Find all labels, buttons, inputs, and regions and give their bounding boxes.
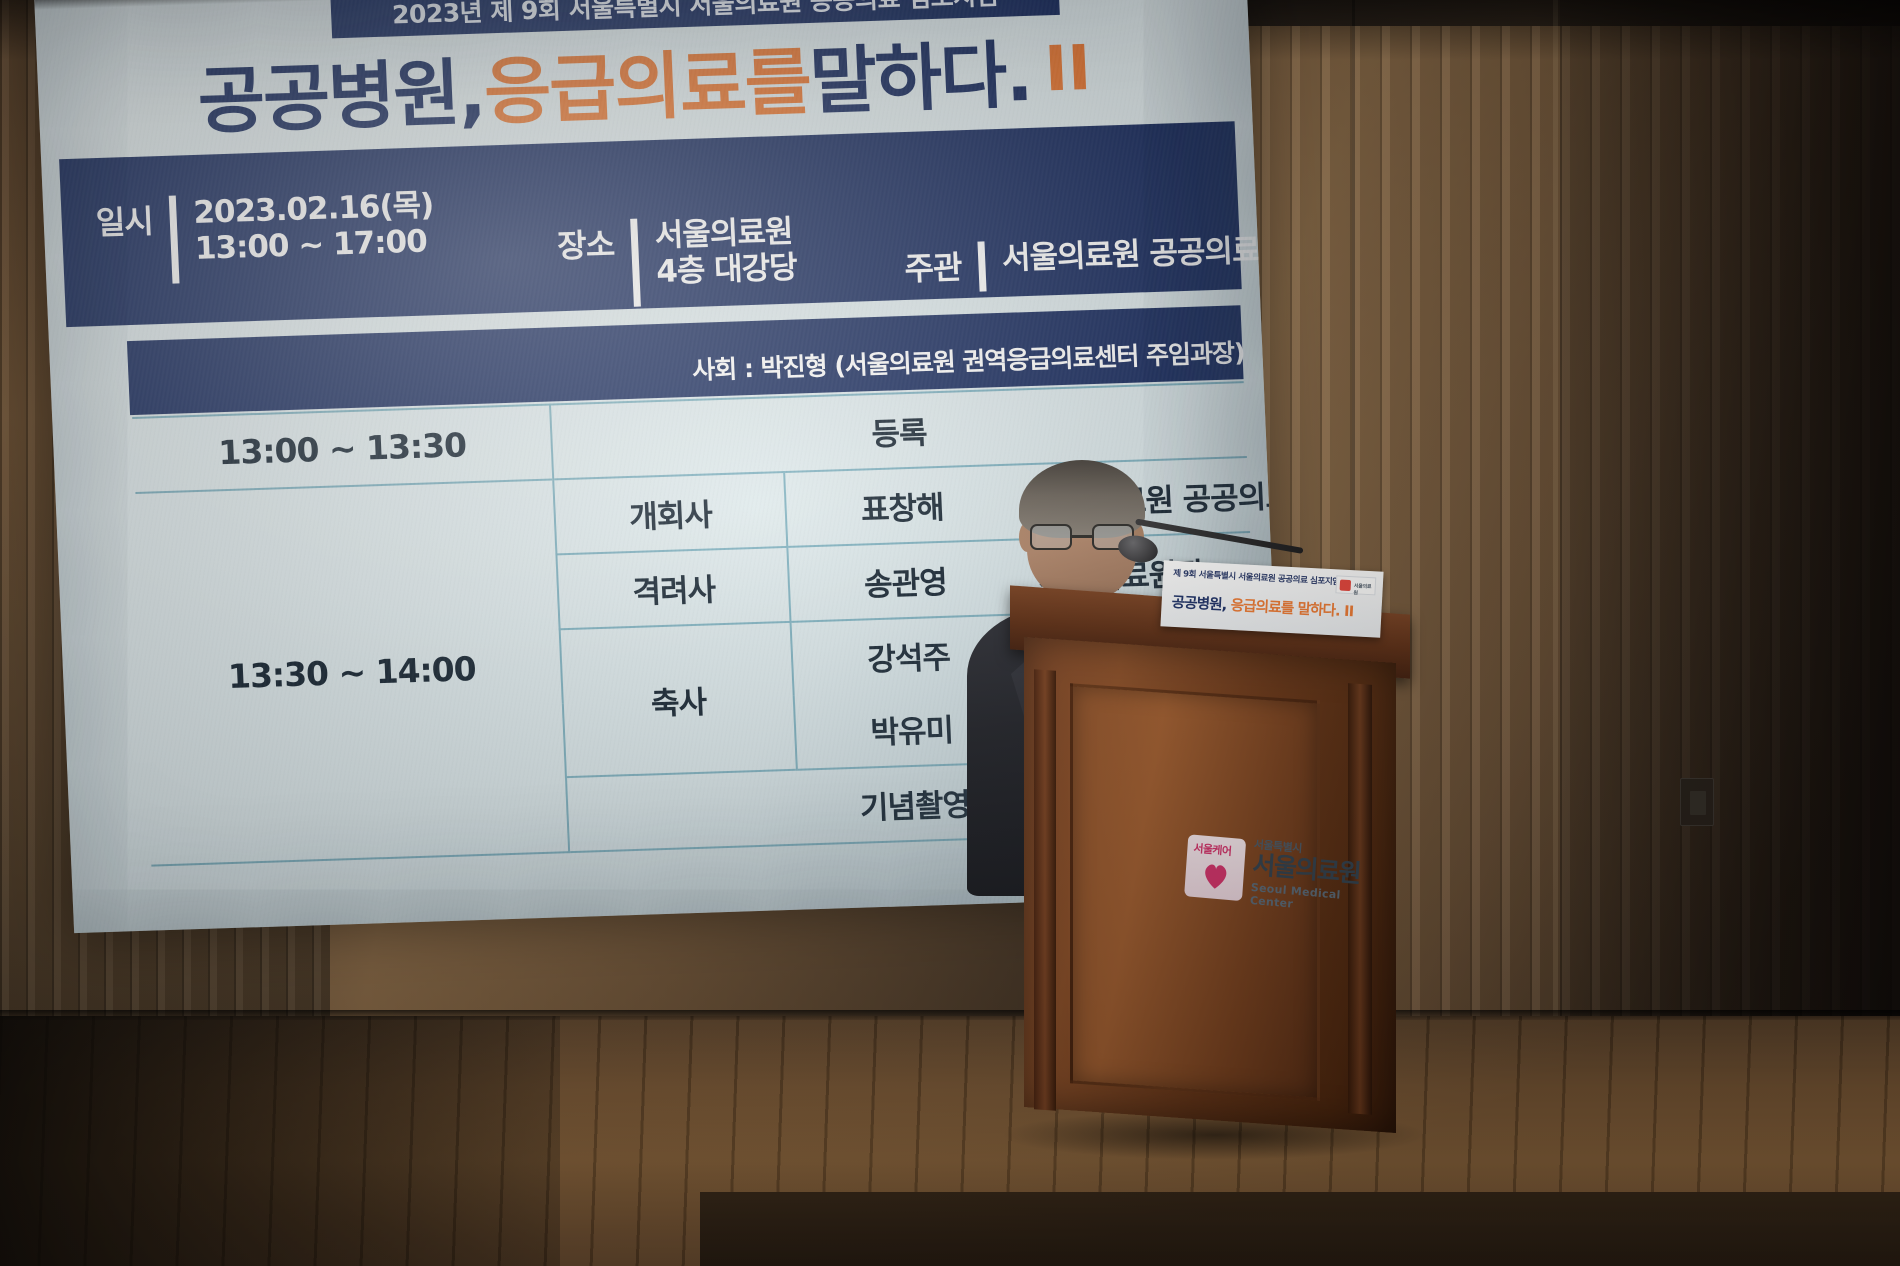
logo-mark-icon — [1340, 580, 1352, 592]
podium-trim-left — [1034, 669, 1056, 1111]
podium-brand-logo: 서울케어 서울특별시 서울의료원 Seoul Medical Center — [1183, 822, 1368, 921]
divider — [630, 219, 641, 307]
row-time: 13:30 ~ 14:00 — [135, 479, 569, 865]
podium-placard: 제 9회 서울특별시 서울의료원 공공의료 심포지엄 공공병원, 응급의료를 말… — [1160, 560, 1383, 637]
slide-info-bar: 일시 2023.02.16(목) 13:00 ~ 17:00 장소 서울의료원 … — [59, 121, 1242, 327]
placard-logo-caption: 서울의료원 — [1353, 582, 1375, 597]
divider — [977, 241, 986, 291]
host-value: 서울의료원 공공의료본부 — [1001, 231, 1285, 277]
slide-title-part4: II — [1043, 30, 1092, 104]
slide-title-part2: 응급의료를 — [482, 23, 812, 139]
slide-info-host: 주관 서울의료원 공공의료본부 — [903, 231, 1285, 294]
slide-title-part3: 말하다. — [807, 16, 1033, 129]
conference-hall-scene: 2023년 제 9회 서울특별시 서울의료원 공공의료 심포지엄 공공병원, 응… — [0, 0, 1900, 1266]
slide-info-date: 일시 2023.02.16(목) 13:00 ~ 17:00 — [95, 187, 436, 286]
placard-title-part2: 응급의료를 말하다. — [1230, 598, 1340, 620]
wall-panel-edge — [1553, 0, 1558, 1040]
row-kind: 축사 — [560, 622, 798, 777]
brand-text-block: 서울특별시 서울의료원 Seoul Medical Center — [1249, 836, 1368, 917]
heart-icon — [1202, 862, 1230, 890]
row-time: 13:00 ~ 13:30 — [132, 405, 553, 493]
host-label: 주관 — [903, 242, 962, 290]
place-value: 서울의료원 4층 대강당 — [654, 214, 797, 291]
wall-outlet — [1680, 778, 1714, 826]
date-line-2: 13:00 ~ 17:00 — [194, 223, 435, 267]
slide-title-part1: 공공병원, — [195, 34, 486, 149]
row-kind: 개회사 — [553, 472, 787, 554]
placard-logo: 서울의료원 — [1335, 575, 1376, 595]
lens-left — [1030, 524, 1072, 550]
place-line-1: 서울의료원 — [654, 214, 796, 255]
seoul-care-label: 서울케어 — [1193, 840, 1232, 859]
seoul-care-badge: 서울케어 — [1184, 834, 1246, 901]
date-label: 일시 — [95, 196, 154, 244]
right-wall-shadow — [1560, 0, 1900, 1040]
divider — [169, 196, 180, 284]
place-label: 장소 — [556, 219, 615, 267]
glasses-bridge — [1072, 535, 1092, 538]
placard-title-part3: II — [1344, 604, 1354, 620]
date-value: 2023.02.16(목) 13:00 ~ 17:00 — [193, 187, 436, 267]
placard-title: 공공병원, 응급의료를 말하다. II — [1171, 591, 1374, 623]
place-line-2: 4층 대강당 — [656, 250, 798, 291]
row-kind: 격려사 — [556, 547, 790, 629]
floor-shadow-left — [0, 1016, 560, 1266]
stage-step — [700, 1192, 1900, 1266]
slide-info-place: 장소 서울의료원 4층 대강당 — [556, 214, 798, 310]
placard-title-part1: 공공병원, — [1171, 595, 1227, 614]
